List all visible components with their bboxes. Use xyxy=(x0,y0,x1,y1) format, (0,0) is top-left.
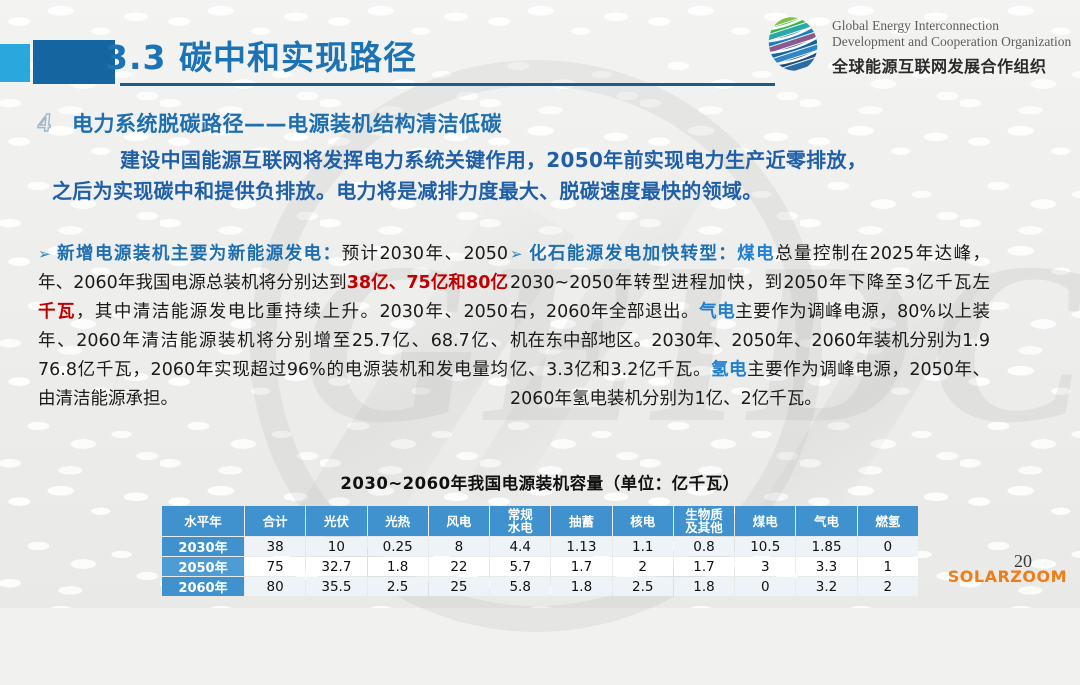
page-title: 3.3 碳中和实现路径 xyxy=(105,31,417,79)
table-caption: 2030~2060年我国电源装机容量（单位：亿千瓦） xyxy=(0,470,1080,494)
logo-en-line1: Global Energy Interconnection xyxy=(832,18,1072,34)
table-cell: 25 xyxy=(429,577,489,596)
left-heading: 新增电源装机主要为新能源发电： xyxy=(56,244,342,264)
table-cell: 3 xyxy=(735,557,795,576)
table-cell: 8 xyxy=(429,537,489,556)
lead-paragraph: 建设中国能源互联网将发挥电力系统关键作用，2050年前实现电力生产近零排放， 之… xyxy=(36,145,1044,207)
solarzoom-watermark: SOLARZOOM xyxy=(948,567,1067,586)
globe-logo-icon xyxy=(760,14,826,74)
capacity-table: 水平年合计光伏光热风电常规水电抽蓄核电生物质及其他煤电气电燃氢 2030年381… xyxy=(161,505,919,597)
table-cell: 2 xyxy=(613,557,673,576)
table-cell: 2 xyxy=(858,577,918,596)
table-cell: 1.7 xyxy=(674,557,734,576)
section-heading: 电力系统脱碳路径——电源装机结构清洁低碳 xyxy=(72,108,502,138)
table-cell-year: 2030年 xyxy=(162,537,244,556)
left-text-2: ，其中清洁能源发电比重持续上升。2030年、2050年、2060年清洁能源装机将… xyxy=(38,302,508,409)
table-col-header: 煤电 xyxy=(735,506,795,536)
table-col-header: 光伏 xyxy=(306,506,366,536)
table-col-header: 水平年 xyxy=(162,506,244,536)
body-column-left: ➢新增电源装机主要为新能源发电：预计2030年、2050年、2060年我国电源总… xyxy=(38,240,508,414)
table-cell: 4.4 xyxy=(490,537,550,556)
table-cell: 1.13 xyxy=(551,537,611,556)
table-cell: 1.8 xyxy=(551,577,611,596)
table-col-header: 光热 xyxy=(368,506,428,536)
table-cell: 1 xyxy=(858,557,918,576)
table-col-header: 气电 xyxy=(796,506,856,536)
table-col-header: 燃氢 xyxy=(858,506,918,536)
table-row: 2030年38100.2584.41.131.10.810.51.850 xyxy=(162,537,918,556)
lead-line-1: 建设中国能源互联网将发挥电力系统关键作用，2050年前实现电力生产近零排放， xyxy=(36,145,1044,176)
table-col-header: 抽蓄 xyxy=(551,506,611,536)
lead-line-2: 之后为实现碳中和提供负排放。电力将是减排力度最大、脱碳速度最快的领域。 xyxy=(36,176,1044,207)
right-highlight-3: 氢电 xyxy=(711,360,747,380)
table-cell: 3.3 xyxy=(796,557,856,576)
header-accent-bar-light xyxy=(0,44,30,82)
table-cell: 38 xyxy=(245,537,305,556)
table-cell: 0.8 xyxy=(674,537,734,556)
table-cell: 10.5 xyxy=(735,537,795,556)
table-cell: 22 xyxy=(429,557,489,576)
section-number: 4 xyxy=(36,108,52,138)
table-cell: 1.85 xyxy=(796,537,856,556)
table-row: 2050年7532.71.8225.71.721.733.31 xyxy=(162,557,918,576)
table-cell: 75 xyxy=(245,557,305,576)
bullet-arrow-icon: ➢ xyxy=(38,245,51,263)
bullet-arrow-icon: ➢ xyxy=(510,245,523,263)
logo-en-line2: Development and Cooperation Organization xyxy=(832,34,1072,50)
table-row: 2060年8035.52.5255.81.82.51.803.22 xyxy=(162,577,918,596)
table-cell: 80 xyxy=(245,577,305,596)
header-underline xyxy=(120,83,775,86)
header-accent-bar-dark xyxy=(33,40,115,84)
table-col-header: 生物质及其他 xyxy=(674,506,734,536)
table-cell: 1.8 xyxy=(674,577,734,596)
slide-canvas: GEIDCO 3.3 碳中和实现路径 xyxy=(0,0,1080,608)
table-cell-year: 2060年 xyxy=(162,577,244,596)
right-highlight-2: 气电 xyxy=(699,302,735,322)
left-paragraph: ➢新增电源装机主要为新能源发电：预计2030年、2050年、2060年我国电源总… xyxy=(38,240,508,414)
table-cell: 0.25 xyxy=(368,537,428,556)
table-cell: 2.5 xyxy=(368,577,428,596)
table-cell: 1.7 xyxy=(551,557,611,576)
table-cell: 1.1 xyxy=(613,537,673,556)
table-cell: 32.7 xyxy=(306,557,366,576)
body-column-right: ➢化石能源发电加快转型：煤电总量控制在2025年达峰，2030~2050年转型进… xyxy=(510,240,990,414)
table-header-row: 水平年合计光伏光热风电常规水电抽蓄核电生物质及其他煤电气电燃氢 xyxy=(162,506,918,536)
logo-text-block: Global Energy Interconnection Developmen… xyxy=(832,18,1072,77)
table-col-header: 合计 xyxy=(245,506,305,536)
table-cell: 0 xyxy=(735,577,795,596)
right-highlight-1: 煤电 xyxy=(737,244,775,264)
table-cell: 2.5 xyxy=(613,577,673,596)
table-cell: 5.8 xyxy=(490,577,550,596)
table-cell: 35.5 xyxy=(306,577,366,596)
table-col-header: 风电 xyxy=(429,506,489,536)
right-heading: 化石能源发电加快转型： xyxy=(528,244,738,264)
table-col-header: 常规水电 xyxy=(490,506,550,536)
table-cell-year: 2050年 xyxy=(162,557,244,576)
right-paragraph: ➢化石能源发电加快转型：煤电总量控制在2025年达峰，2030~2050年转型进… xyxy=(510,240,990,414)
table-cell: 3.2 xyxy=(796,577,856,596)
table-col-header: 核电 xyxy=(613,506,673,536)
table-cell: 10 xyxy=(306,537,366,556)
logo-cn-name: 全球能源互联网发展合作组织 xyxy=(832,53,1072,77)
table-cell: 5.7 xyxy=(490,557,550,576)
table-cell: 0 xyxy=(858,537,918,556)
table-cell: 1.8 xyxy=(368,557,428,576)
